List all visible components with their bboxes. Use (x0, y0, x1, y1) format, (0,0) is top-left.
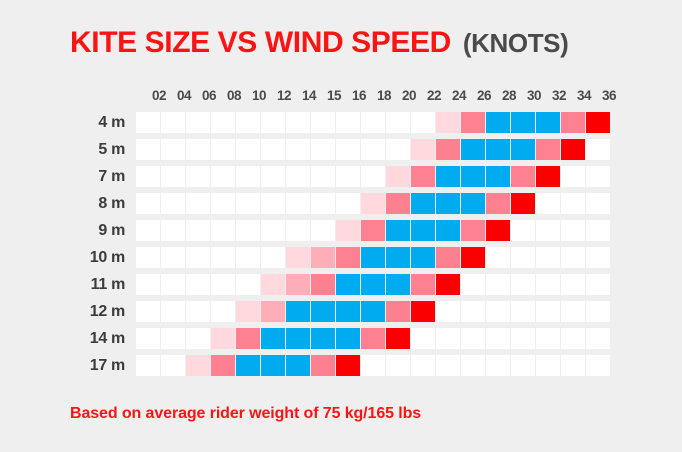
cell-12m-34 (561, 301, 585, 322)
cell-7m-32 (536, 166, 560, 187)
cell-10m-06 (186, 247, 210, 268)
cell-8m-32 (536, 193, 560, 214)
cell-10m-18 (361, 247, 385, 268)
row-cells (136, 193, 611, 214)
cell-4m-04 (161, 112, 185, 133)
cell-4m-15 (311, 112, 335, 133)
column-header-16: 16 (347, 88, 371, 103)
chart-footnote: Based on average rider weight of 75 kg/1… (70, 405, 421, 423)
cell-7m-14 (286, 166, 310, 187)
cell-4m-28 (486, 112, 510, 133)
row-cells (136, 139, 611, 160)
cell-17m-22 (411, 355, 435, 376)
cell-7m-10 (236, 166, 260, 187)
cell-9m-16 (336, 220, 360, 241)
cell-4m-22 (411, 112, 435, 133)
cell-7m-15 (311, 166, 335, 187)
cell-14m-04 (161, 328, 185, 349)
cell-5m-34 (561, 139, 585, 160)
cell-12m-06 (186, 301, 210, 322)
cell-12m-32 (536, 301, 560, 322)
cell-4m-10 (236, 112, 260, 133)
cell-17m-26 (461, 355, 485, 376)
cell-12m-12 (261, 301, 285, 322)
cell-11m-04 (161, 274, 185, 295)
column-header-26: 26 (472, 88, 496, 103)
cell-11m-26 (461, 274, 485, 295)
cell-10m-36 (586, 247, 610, 268)
cell-5m-30 (511, 139, 535, 160)
cell-8m-04 (161, 193, 185, 214)
cell-5m-22 (411, 139, 435, 160)
cell-12m-10 (236, 301, 260, 322)
cell-7m-02 (136, 166, 160, 187)
column-header-32: 32 (547, 88, 571, 103)
cell-11m-08 (211, 274, 235, 295)
column-header-36: 36 (597, 88, 621, 103)
cell-5m-15 (311, 139, 335, 160)
cell-9m-22 (411, 220, 435, 241)
cell-10m-02 (136, 247, 160, 268)
cell-14m-12 (261, 328, 285, 349)
cell-4m-14 (286, 112, 310, 133)
cell-14m-26 (461, 328, 485, 349)
cell-9m-26 (461, 220, 485, 241)
column-header-12: 12 (272, 88, 296, 103)
cell-10m-30 (511, 247, 535, 268)
cell-9m-30 (511, 220, 535, 241)
cell-14m-24 (436, 328, 460, 349)
cell-17m-34 (561, 355, 585, 376)
cell-8m-15 (311, 193, 335, 214)
row-label-8-m: 8 m (0, 195, 136, 213)
table-row: 5 m (0, 139, 611, 160)
cell-8m-12 (261, 193, 285, 214)
cell-12m-18 (361, 301, 385, 322)
cell-5m-02 (136, 139, 160, 160)
cell-17m-24 (436, 355, 460, 376)
cell-11m-15 (311, 274, 335, 295)
cell-7m-24 (436, 166, 460, 187)
column-header-22: 22 (422, 88, 446, 103)
cell-8m-36 (586, 193, 610, 214)
cell-4m-08 (211, 112, 235, 133)
cell-12m-08 (211, 301, 235, 322)
cell-12m-36 (586, 301, 610, 322)
cell-12m-15 (311, 301, 335, 322)
cell-14m-10 (236, 328, 260, 349)
cell-14m-36 (586, 328, 610, 349)
cell-11m-12 (261, 274, 285, 295)
column-header-20: 20 (397, 88, 421, 103)
column-header-18: 18 (372, 88, 396, 103)
cell-4m-34 (561, 112, 585, 133)
table-row: 14 m (0, 328, 611, 349)
column-header-02: 02 (147, 88, 171, 103)
cell-17m-36 (586, 355, 610, 376)
cell-10m-20 (386, 247, 410, 268)
cell-7m-16 (336, 166, 360, 187)
row-cells (136, 220, 611, 241)
cell-5m-26 (461, 139, 485, 160)
cell-17m-14 (286, 355, 310, 376)
row-label-9-m: 9 m (0, 222, 136, 240)
cell-7m-18 (361, 166, 385, 187)
chart-rows: 4 m5 m7 m8 m9 m10 m11 m12 m14 m17 m (0, 112, 611, 382)
column-header-28: 28 (497, 88, 521, 103)
column-header-14: 14 (297, 88, 321, 103)
column-header-15: 15 (322, 88, 346, 103)
table-row: 10 m (0, 247, 611, 268)
cell-8m-26 (461, 193, 485, 214)
cell-9m-04 (161, 220, 185, 241)
cell-8m-28 (486, 193, 510, 214)
row-label-11-m: 11 m (0, 276, 136, 294)
cell-10m-16 (336, 247, 360, 268)
cell-17m-30 (511, 355, 535, 376)
cell-12m-16 (336, 301, 360, 322)
cell-7m-20 (386, 166, 410, 187)
cell-7m-28 (486, 166, 510, 187)
cell-8m-06 (186, 193, 210, 214)
column-header-24: 24 (447, 88, 471, 103)
cell-4m-36 (586, 112, 610, 133)
cell-5m-36 (586, 139, 610, 160)
cell-17m-18 (361, 355, 385, 376)
cell-10m-28 (486, 247, 510, 268)
cell-14m-30 (511, 328, 535, 349)
cell-8m-02 (136, 193, 160, 214)
cell-9m-28 (486, 220, 510, 241)
cell-11m-18 (361, 274, 385, 295)
cell-17m-06 (186, 355, 210, 376)
cell-4m-24 (436, 112, 460, 133)
cell-11m-16 (336, 274, 360, 295)
cell-9m-02 (136, 220, 160, 241)
cell-11m-06 (186, 274, 210, 295)
cell-9m-10 (236, 220, 260, 241)
cell-8m-20 (386, 193, 410, 214)
cell-9m-08 (211, 220, 235, 241)
cell-12m-04 (161, 301, 185, 322)
cell-10m-12 (261, 247, 285, 268)
cell-9m-14 (286, 220, 310, 241)
cell-8m-34 (561, 193, 585, 214)
cell-4m-26 (461, 112, 485, 133)
cell-11m-34 (561, 274, 585, 295)
cell-14m-15 (311, 328, 335, 349)
cell-5m-12 (261, 139, 285, 160)
cell-10m-15 (311, 247, 335, 268)
row-label-7-m: 7 m (0, 168, 136, 186)
cell-12m-22 (411, 301, 435, 322)
cell-10m-10 (236, 247, 260, 268)
cell-8m-30 (511, 193, 535, 214)
table-row: 4 m (0, 112, 611, 133)
title-units-text: (KNOTS) (463, 30, 569, 56)
cell-14m-32 (536, 328, 560, 349)
cell-17m-12 (261, 355, 285, 376)
table-row: 9 m (0, 220, 611, 241)
cell-10m-24 (436, 247, 460, 268)
cell-17m-04 (161, 355, 185, 376)
cell-5m-32 (536, 139, 560, 160)
cell-9m-32 (536, 220, 560, 241)
cell-11m-32 (536, 274, 560, 295)
cell-5m-18 (361, 139, 385, 160)
cell-7m-12 (261, 166, 285, 187)
column-header-06: 06 (197, 88, 221, 103)
cell-17m-08 (211, 355, 235, 376)
row-cells (136, 301, 611, 322)
cell-5m-16 (336, 139, 360, 160)
cell-11m-20 (386, 274, 410, 295)
cell-11m-02 (136, 274, 160, 295)
cell-5m-08 (211, 139, 235, 160)
table-row: 11 m (0, 274, 611, 295)
cell-11m-36 (586, 274, 610, 295)
row-cells (136, 112, 611, 133)
cell-10m-34 (561, 247, 585, 268)
cell-14m-22 (411, 328, 435, 349)
row-cells (136, 166, 611, 187)
cell-9m-15 (311, 220, 335, 241)
cell-12m-24 (436, 301, 460, 322)
cell-17m-02 (136, 355, 160, 376)
row-cells (136, 274, 611, 295)
table-row: 12 m (0, 301, 611, 322)
column-header-08: 08 (222, 88, 246, 103)
cell-11m-24 (436, 274, 460, 295)
cell-9m-24 (436, 220, 460, 241)
cell-17m-10 (236, 355, 260, 376)
row-label-12-m: 12 m (0, 303, 136, 321)
column-header-30: 30 (522, 88, 546, 103)
cell-17m-20 (386, 355, 410, 376)
cell-7m-08 (211, 166, 235, 187)
cell-8m-10 (236, 193, 260, 214)
row-label-14-m: 14 m (0, 330, 136, 348)
cell-8m-16 (336, 193, 360, 214)
cell-17m-16 (336, 355, 360, 376)
column-header-10: 10 (247, 88, 271, 103)
cell-5m-24 (436, 139, 460, 160)
row-cells (136, 355, 611, 376)
kite-size-wind-speed-chart: KITE SIZE VS WIND SPEED (KNOTS) 02040608… (0, 0, 682, 452)
cell-7m-06 (186, 166, 210, 187)
cell-10m-32 (536, 247, 560, 268)
cell-11m-30 (511, 274, 535, 295)
row-cells (136, 247, 611, 268)
table-row: 8 m (0, 193, 611, 214)
cell-4m-32 (536, 112, 560, 133)
cell-9m-12 (261, 220, 285, 241)
cell-14m-18 (361, 328, 385, 349)
cell-8m-22 (411, 193, 435, 214)
row-label-4-m: 4 m (0, 114, 136, 132)
cell-14m-16 (336, 328, 360, 349)
column-header-34: 34 (572, 88, 596, 103)
cell-10m-08 (211, 247, 235, 268)
cell-5m-28 (486, 139, 510, 160)
table-row: 17 m (0, 355, 611, 376)
cell-4m-02 (136, 112, 160, 133)
cell-9m-20 (386, 220, 410, 241)
cell-8m-14 (286, 193, 310, 214)
cell-11m-22 (411, 274, 435, 295)
cell-4m-18 (361, 112, 385, 133)
cell-11m-10 (236, 274, 260, 295)
cell-17m-32 (536, 355, 560, 376)
cell-12m-14 (286, 301, 310, 322)
cell-10m-26 (461, 247, 485, 268)
cell-10m-04 (161, 247, 185, 268)
cell-9m-34 (561, 220, 585, 241)
row-cells (136, 328, 611, 349)
cell-14m-08 (211, 328, 235, 349)
row-label-5-m: 5 m (0, 141, 136, 159)
page-title: KITE SIZE VS WIND SPEED (KNOTS) (70, 28, 568, 58)
cell-5m-04 (161, 139, 185, 160)
cell-14m-06 (186, 328, 210, 349)
cell-4m-16 (336, 112, 360, 133)
cell-8m-24 (436, 193, 460, 214)
column-header-04: 04 (172, 88, 196, 103)
cell-14m-14 (286, 328, 310, 349)
cell-5m-06 (186, 139, 210, 160)
cell-4m-20 (386, 112, 410, 133)
cell-7m-34 (561, 166, 585, 187)
cell-10m-22 (411, 247, 435, 268)
cell-14m-20 (386, 328, 410, 349)
cell-14m-34 (561, 328, 585, 349)
cell-12m-02 (136, 301, 160, 322)
column-header-row: 02040608101214151618202224262830323436 (147, 88, 622, 103)
cell-4m-30 (511, 112, 535, 133)
cell-9m-18 (361, 220, 385, 241)
cell-5m-10 (236, 139, 260, 160)
cell-4m-06 (186, 112, 210, 133)
cell-7m-04 (161, 166, 185, 187)
cell-14m-28 (486, 328, 510, 349)
cell-7m-26 (461, 166, 485, 187)
cell-14m-02 (136, 328, 160, 349)
cell-11m-28 (486, 274, 510, 295)
cell-11m-14 (286, 274, 310, 295)
table-row: 7 m (0, 166, 611, 187)
cell-10m-14 (286, 247, 310, 268)
cell-7m-36 (586, 166, 610, 187)
row-label-17-m: 17 m (0, 357, 136, 375)
cell-9m-06 (186, 220, 210, 241)
cell-5m-14 (286, 139, 310, 160)
cell-8m-08 (211, 193, 235, 214)
cell-12m-28 (486, 301, 510, 322)
cell-12m-26 (461, 301, 485, 322)
cell-7m-30 (511, 166, 535, 187)
cell-17m-15 (311, 355, 335, 376)
cell-7m-22 (411, 166, 435, 187)
cell-4m-12 (261, 112, 285, 133)
cell-17m-28 (486, 355, 510, 376)
cell-8m-18 (361, 193, 385, 214)
cell-9m-36 (586, 220, 610, 241)
cell-5m-20 (386, 139, 410, 160)
cell-12m-20 (386, 301, 410, 322)
row-label-10-m: 10 m (0, 249, 136, 267)
cell-12m-30 (511, 301, 535, 322)
title-main-text: KITE SIZE VS WIND SPEED (70, 28, 451, 58)
